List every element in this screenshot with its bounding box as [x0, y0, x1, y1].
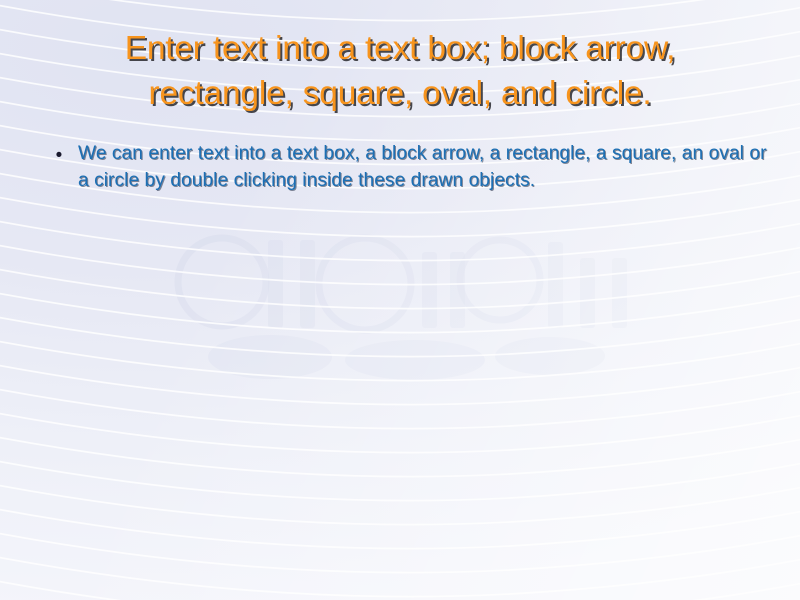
- list-item: • We can enter text into a text box, a b…: [40, 141, 770, 194]
- bullet-text: We can enter text into a text box, a blo…: [78, 141, 770, 194]
- bullet-marker-icon: •: [40, 141, 78, 169]
- slide-content: Enter text into a text box; block arrow,…: [0, 0, 800, 600]
- slide-title: Enter text into a text box; block arrow,…: [38, 27, 762, 116]
- presentation-slide: Enter text into a text box; block arrow,…: [0, 0, 800, 600]
- slide-body: • We can enter text into a text box, a b…: [40, 141, 770, 194]
